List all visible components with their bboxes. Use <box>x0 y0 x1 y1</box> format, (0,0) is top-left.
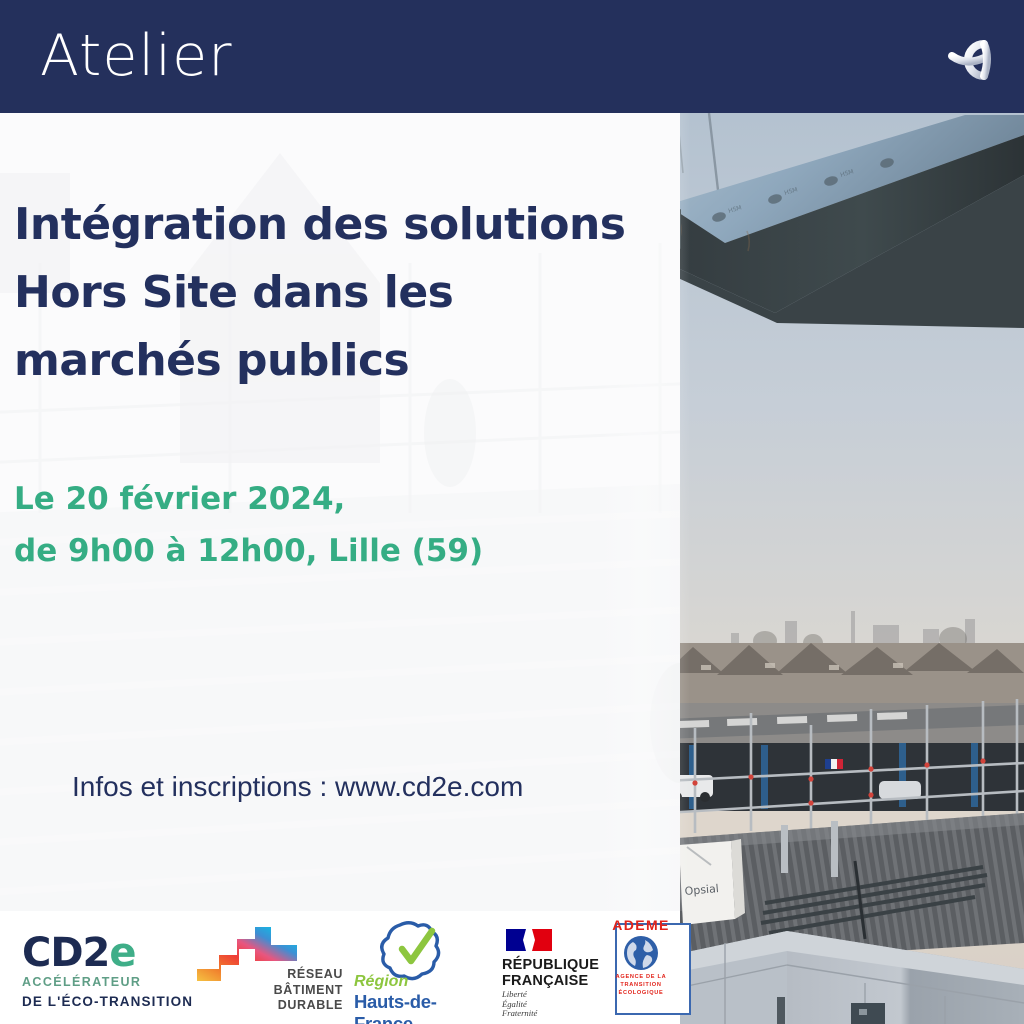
globe-icon <box>623 935 659 971</box>
rf-motto: Liberté Égalité Fraternité <box>502 990 537 1019</box>
rhf-name-label: Hauts-de-France <box>354 991 490 1024</box>
construction-photo-illustration: HSM HSM HSM <box>665 113 1024 1024</box>
rf-line-2: FRANÇAISE <box>502 973 588 989</box>
cd2e-word-main: CD2 <box>22 930 109 976</box>
partner-logo-ademe[interactable]: ADEME AGENCE DE LA TRANSITION ÉCOLOGIQUE <box>605 911 697 1024</box>
french-flag-icon <box>504 927 554 953</box>
page-title: Intégration des solutions Hors Site dans… <box>14 191 664 395</box>
ademe-sub-2: TRANSITION <box>605 981 677 989</box>
poster-content: Intégration des solutions Hors Site dans… <box>0 113 680 911</box>
france-outline-check-icon <box>380 919 450 981</box>
rbd-line-2: BÂTIMENT <box>274 983 343 997</box>
cd2e-tagline-2: DE L'ÉCO-TRANSITION <box>22 994 193 1009</box>
ademe-sub-1: AGENCE DE LA <box>605 973 677 981</box>
cd2e-tagline-1: ACCÉLÉRATEUR <box>22 975 141 989</box>
event-poster: HSM HSM HSM <box>0 0 1024 1024</box>
datetime-line-1: Le 20 février 2024, <box>14 473 664 525</box>
partner-logo-reseau-batiment-durable[interactable]: RÉSEAU BÂTIMENT DURABLE <box>195 911 350 1024</box>
datetime-line-2: de 9h00 à 12h00, Lille (59) <box>14 525 664 577</box>
cd2e-word-accent: e <box>109 930 135 976</box>
rbd-text-block: RÉSEAU BÂTIMENT DURABLE <box>269 967 343 1014</box>
rbd-line-3: DURABLE <box>278 998 343 1012</box>
title-line-1: Intégration des solutions <box>14 191 664 259</box>
ademe-subtitle: AGENCE DE LA TRANSITION ÉCOLOGIQUE <box>605 973 677 997</box>
partner-logo-region-hauts-de-france[interactable]: Région Hauts-de-France <box>350 911 490 1024</box>
header-title: Atelier <box>40 22 233 90</box>
title-line-3: marchés publics <box>14 327 664 395</box>
ademe-wordmark: ADEME <box>605 917 677 933</box>
rf-motto-3: Fraternité <box>502 1009 537 1019</box>
houses-row <box>665 643 1024 705</box>
partner-logo-cd2e[interactable]: CD2e ACCÉLÉRATEUR DE L'ÉCO-TRANSITION <box>0 911 195 1024</box>
rf-line-1: RÉPUBLIQUE <box>502 957 599 973</box>
rbd-line-1: RÉSEAU <box>287 967 343 981</box>
construction-photo: HSM HSM HSM <box>665 113 1024 1024</box>
title-line-2: Hors Site dans les <box>14 259 664 327</box>
cd2e-e-logo-icon <box>934 24 998 90</box>
header-bar: Atelier <box>0 0 1024 113</box>
cd2e-wordmark: CD2e <box>22 933 136 973</box>
event-datetime: Le 20 février 2024, de 9h00 à 12h00, Lil… <box>14 473 664 577</box>
registration-info[interactable]: Infos et inscriptions : www.cd2e.com <box>72 771 523 803</box>
partner-logo-republique-francaise[interactable]: RÉPUBLIQUE FRANÇAISE Liberté Égalité Fra… <box>490 911 605 1024</box>
ademe-sub-3: ÉCOLOGIQUE <box>605 989 677 997</box>
rhf-region-label: Région <box>354 973 408 991</box>
partner-logo-bar: CD2e ACCÉLÉRATEUR DE L'ÉCO-TRANSITION <box>0 911 680 1024</box>
industrial-shed <box>665 703 1024 745</box>
flag-icon <box>825 759 843 769</box>
